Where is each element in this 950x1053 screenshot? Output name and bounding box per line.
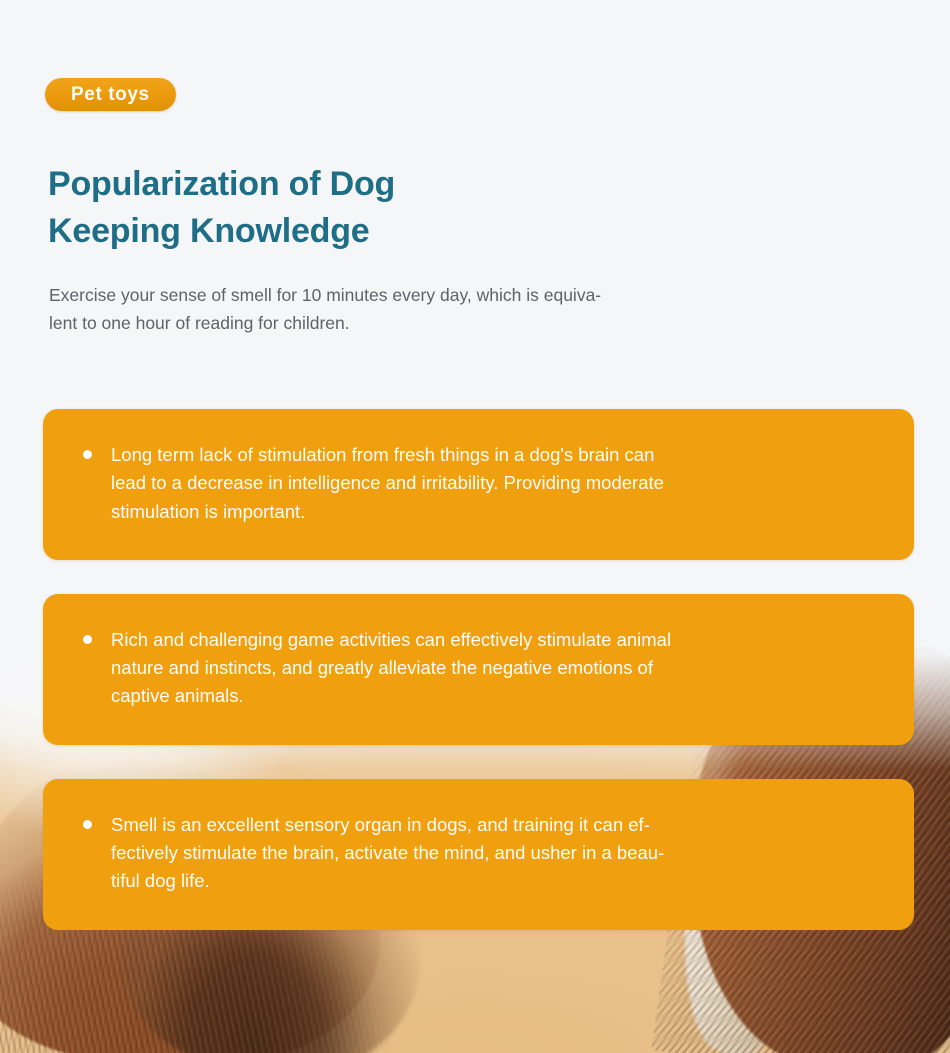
info-card-row: Smell is an excellent sensory organ in d… (83, 811, 874, 896)
bullet-dot-icon (83, 635, 92, 644)
page-subtitle-line-2: lent to one hour of reading for children… (49, 309, 759, 337)
info-card: Long term lack of stimulation from fresh… (43, 409, 914, 560)
bullet-dot-icon (83, 820, 92, 829)
page-title: Popularization of Dog Keeping Knowledge (48, 161, 608, 255)
page-title-line-1: Popularization of Dog (48, 161, 608, 208)
info-card: Rich and challenging game activities can… (43, 594, 914, 745)
info-card-text-line-3: tiful dog life. (111, 867, 664, 895)
page-subtitle-line-1: Exercise your sense of smell for 10 minu… (49, 281, 759, 309)
info-card-text-line-3: stimulation is important. (111, 498, 664, 526)
info-card-text-line-1: Rich and challenging game activities can… (111, 626, 671, 654)
info-card-row: Long term lack of stimulation from fresh… (83, 441, 874, 526)
info-card-row: Rich and challenging game activities can… (83, 626, 874, 711)
info-card-text: Smell is an excellent sensory organ in d… (111, 811, 664, 896)
info-card-text-line-1: Smell is an excellent sensory organ in d… (111, 811, 664, 839)
info-card-text: Rich and challenging game activities can… (111, 626, 671, 711)
info-card-text-line-2: nature and instincts, and greatly allevi… (111, 654, 671, 682)
info-card-text-line-1: Long term lack of stimulation from fresh… (111, 441, 664, 469)
info-card-text-line-2: lead to a decrease in intelligence and i… (111, 469, 664, 497)
info-card-text-line-2: fectively stimulate the brain, activate … (111, 839, 664, 867)
page-title-line-2: Keeping Knowledge (48, 208, 608, 255)
info-card-text: Long term lack of stimulation from fresh… (111, 441, 664, 526)
info-card-text-line-3: captive animals. (111, 682, 671, 710)
page-subtitle: Exercise your sense of smell for 10 minu… (49, 281, 759, 338)
info-card-list: Long term lack of stimulation from fresh… (43, 409, 914, 930)
category-badge-label: Pet toys (71, 85, 150, 104)
bullet-dot-icon (83, 450, 92, 459)
info-card: Smell is an excellent sensory organ in d… (43, 779, 914, 930)
category-badge[interactable]: Pet toys (45, 78, 176, 111)
